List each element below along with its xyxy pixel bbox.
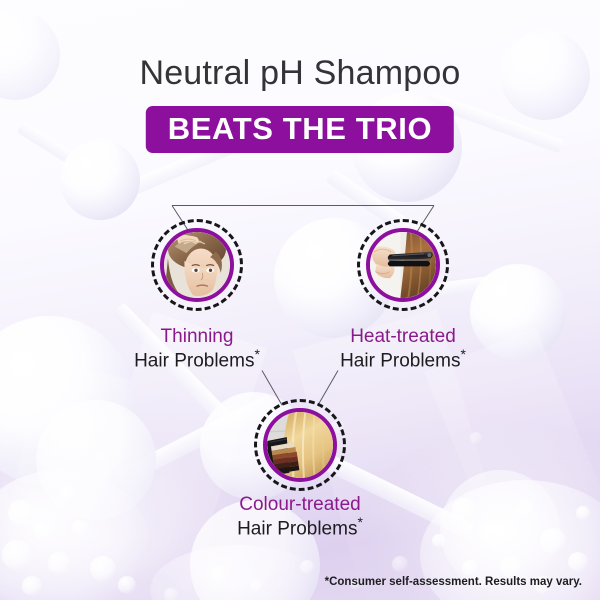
photo-ring-colour-treated [263,408,337,482]
node-thinning [151,219,243,311]
label-thinning: Thinning Hair Problems* [97,326,297,372]
footnote-marker: * [357,514,362,530]
label-colour-treated-title: Colour-treated [200,494,400,515]
woman-touching-thinning-scalp-photo [164,232,230,298]
blonde-hair-colour-swatch-photo [267,412,333,478]
label-thinning-title: Thinning [97,326,297,347]
footnote-marker: * [460,346,465,362]
node-heat-treated [357,219,449,311]
label-thinning-subtitle: Hair Problems* [97,347,297,372]
label-heat-treated: Heat-treated Hair Problems* [303,326,503,372]
page-title: Neutral pH Shampoo [0,54,600,93]
label-colour-treated: Colour-treated Hair Problems* [200,494,400,540]
photo-ring-heat-treated [366,228,440,302]
photo-ring-thinning [160,228,234,302]
label-colour-treated-subtitle: Hair Problems* [200,515,400,540]
node-colour-treated [254,399,346,491]
label-heat-treated-title: Heat-treated [303,326,503,347]
flat-iron-straightening-hair-photo [370,232,436,298]
banner-badge: BEATS THE TRIO [146,106,454,153]
banner-label: BEATS THE TRIO [168,113,432,144]
footnote-marker: * [254,346,259,362]
poster-canvas: Neutral pH Shampoo BEATS THE TRIO [0,0,600,600]
disclaimer-text: *Consumer self-assessment. Results may v… [325,576,582,588]
label-heat-treated-subtitle: Hair Problems* [303,347,503,372]
